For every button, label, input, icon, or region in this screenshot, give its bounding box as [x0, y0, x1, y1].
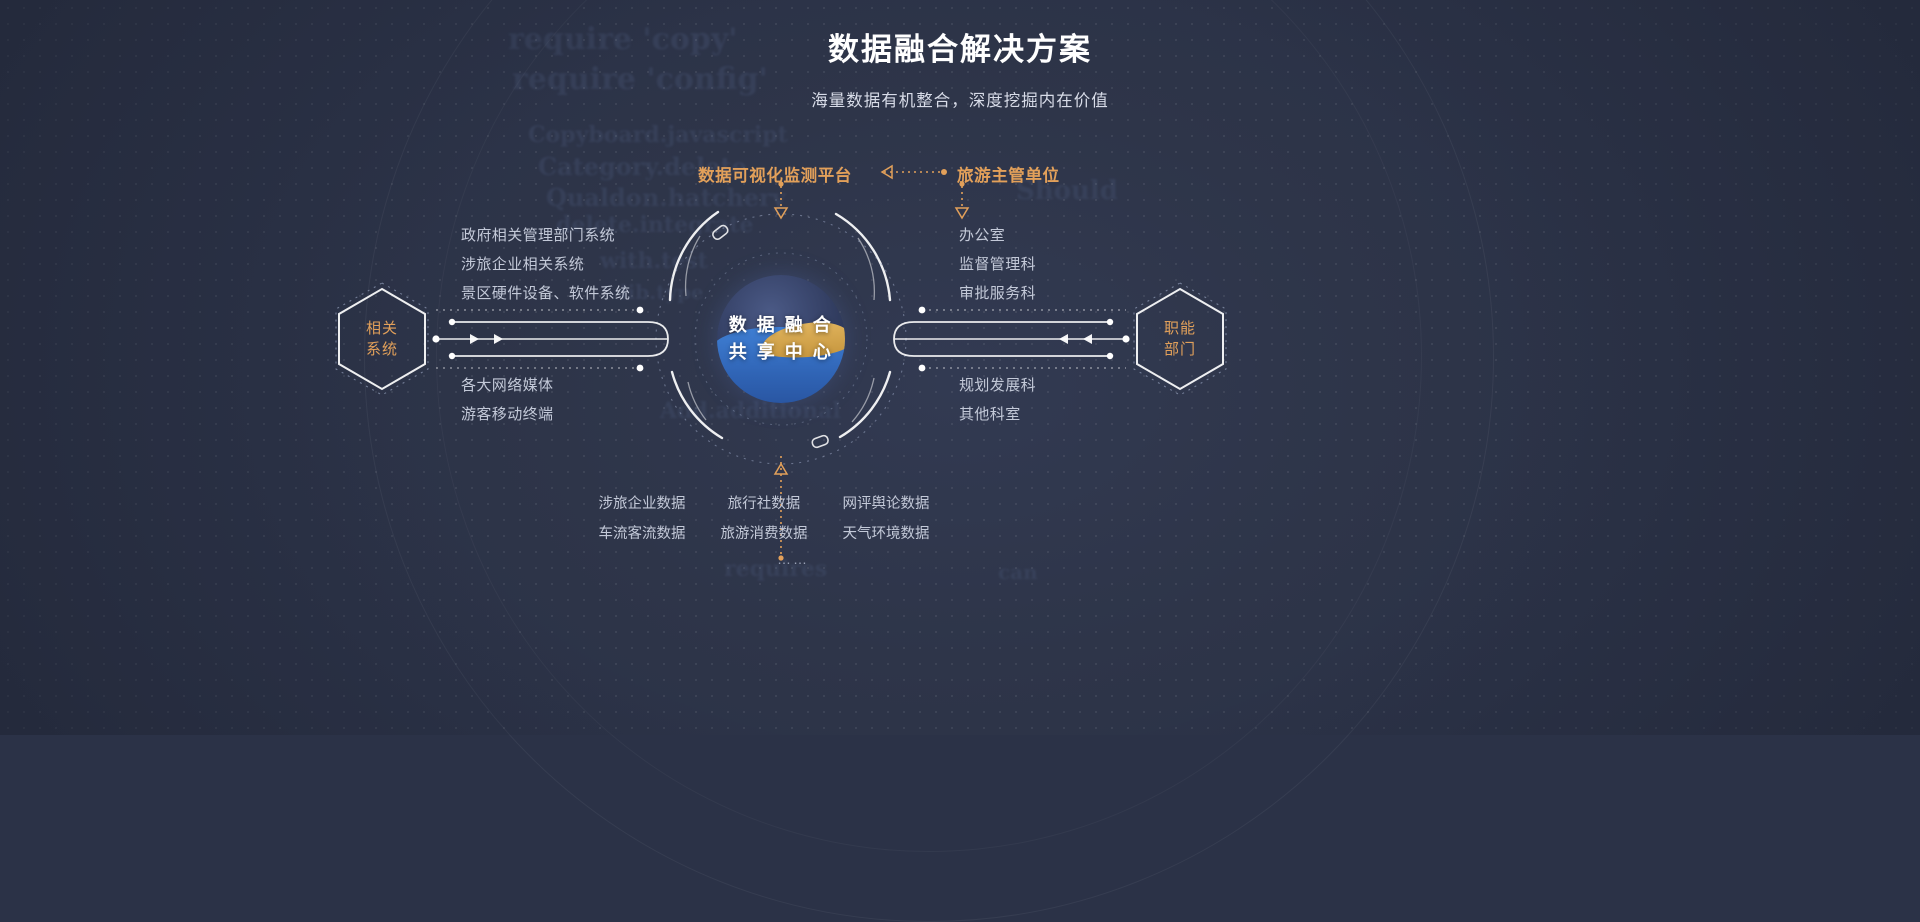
bottom-data-cell: 车流客流数据	[598, 519, 686, 549]
bottom-data-cell: 旅行社数据	[720, 489, 808, 519]
bottom-data-ellipsis: ……	[598, 551, 988, 567]
heading-visualization-platform: 数据可视化监测平台	[698, 162, 852, 186]
core-label-line2: 共 享 中 心	[729, 339, 834, 366]
right-labels-top: 办公室 监督管理科 审批服务科	[959, 221, 1036, 308]
bottom-data-cell: 旅游消费数据	[720, 519, 808, 549]
hexagon-left-line1: 相关	[366, 318, 398, 339]
left-label-item: 涉旅企业相关系统	[461, 250, 630, 279]
right-label-item: 办公室	[959, 221, 1036, 250]
bottom-data-row: 车流客流数据 旅游消费数据 天气环境数据	[598, 519, 988, 549]
bottom-data-cell: 网评舆论数据	[842, 489, 930, 519]
right-label-item: 规划发展科	[959, 371, 1036, 400]
right-label-item: 监督管理科	[959, 250, 1036, 279]
left-label-item: 游客移动终端	[461, 400, 553, 429]
right-label-item: 其他科室	[959, 400, 1036, 429]
left-labels-top: 政府相关管理部门系统 涉旅企业相关系统 景区硬件设备、软件系统	[461, 221, 630, 308]
hexagon-left-text: 相关 系统	[336, 287, 428, 391]
page-subtitle: 海量数据有机整合，深度挖掘内在价值	[0, 87, 1920, 111]
bottom-data-grid: 涉旅企业数据 旅行社数据 网评舆论数据 车流客流数据 旅游消费数据 天气环境数据	[598, 489, 988, 549]
hexagon-right-text: 职能 部门	[1134, 287, 1226, 391]
hexagon-left-line2: 系统	[366, 339, 398, 360]
left-label-item: 政府相关管理部门系统	[461, 221, 630, 250]
right-labels-bottom: 规划发展科 其他科室	[959, 371, 1036, 429]
hexagon-related-systems[interactable]: 相关 系统	[336, 287, 428, 391]
right-label-item: 审批服务科	[959, 279, 1036, 308]
core-label: 数 据 融 合 共 享 中 心	[717, 275, 845, 403]
hexagon-right-line2: 部门	[1164, 339, 1196, 360]
page-title: 数据融合解决方案	[0, 34, 1920, 65]
bottom-data-cell: 涉旅企业数据	[598, 489, 686, 519]
page-header: 数据融合解决方案 海量数据有机整合，深度挖掘内在价值	[0, 34, 1920, 111]
bottom-data-cell: 天气环境数据	[842, 519, 930, 549]
hexagon-functional-departments[interactable]: 职能 部门	[1134, 287, 1226, 391]
bottom-data-row: 涉旅企业数据 旅行社数据 网评舆论数据	[598, 489, 988, 519]
left-labels-bottom: 各大网络媒体 游客移动终端	[461, 371, 553, 429]
heading-tourism-authority: 旅游主管单位	[957, 162, 1060, 186]
hexagon-right-line1: 职能	[1164, 318, 1196, 339]
left-label-item: 景区硬件设备、软件系统	[461, 279, 630, 308]
left-label-item: 各大网络媒体	[461, 371, 553, 400]
core-label-line1: 数 据 融 合	[729, 312, 834, 339]
